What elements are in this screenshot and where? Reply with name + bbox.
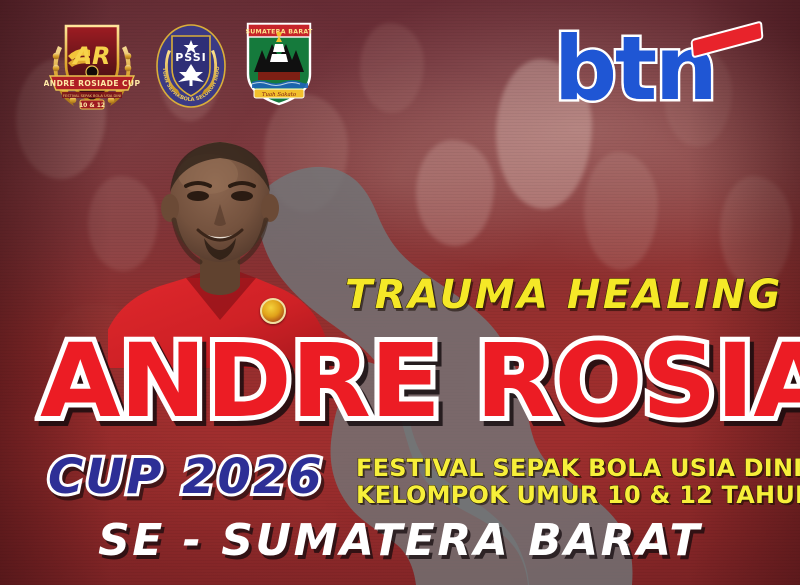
sumatera-barat-crest: SUMATERA BARAT Tuah Sakato [242, 18, 316, 113]
svg-text:Tuah Sakato: Tuah Sakato [262, 92, 297, 98]
cup-year-label: CUP 2026 [48, 452, 324, 502]
eyebrow-heading: TRAUMA HEALING [345, 272, 783, 318]
page-title: ANDRE ROSIADE [40, 330, 800, 434]
shirt-badge-icon [260, 298, 286, 324]
svg-text:ANDRE ROSIADE CUP: ANDRE ROSIADE CUP [44, 79, 140, 88]
event-poster: AR ANDRE ROSIADE CUP FESTIVAL SEPAK BOLA… [0, 0, 800, 585]
svg-text:PSSI: PSSI [175, 51, 207, 64]
festival-line-1: FESTIVAL SEPAK BOLA USIA DINI [356, 456, 800, 481]
region-label: SE - SUMATERA BARAT [0, 518, 800, 564]
svg-text:FESTIVAL SEPAK BOLA USIA DINI: FESTIVAL SEPAK BOLA USIA DINI [63, 94, 121, 98]
festival-details: FESTIVAL SEPAK BOLA USIA DINI KELOMPOK U… [356, 456, 800, 508]
pssi-crest: PERSATUAN SEPAKBOLA SELURUH INDONESIA PS… [156, 20, 226, 113]
btn-logo: btn btn [554, 22, 772, 114]
organizer-logos: AR ANDRE ROSIADE CUP FESTIVAL SEPAK BOLA… [44, 16, 316, 119]
festival-line-2: KELOMPOK UMUR 10 & 12 TAHUN [356, 483, 800, 508]
svg-text:10 & 12: 10 & 12 [79, 102, 105, 109]
btn-wordmark: btn [554, 24, 716, 114]
andre-rosiade-cup-crest: AR ANDRE ROSIADE CUP FESTIVAL SEPAK BOLA… [44, 16, 140, 119]
